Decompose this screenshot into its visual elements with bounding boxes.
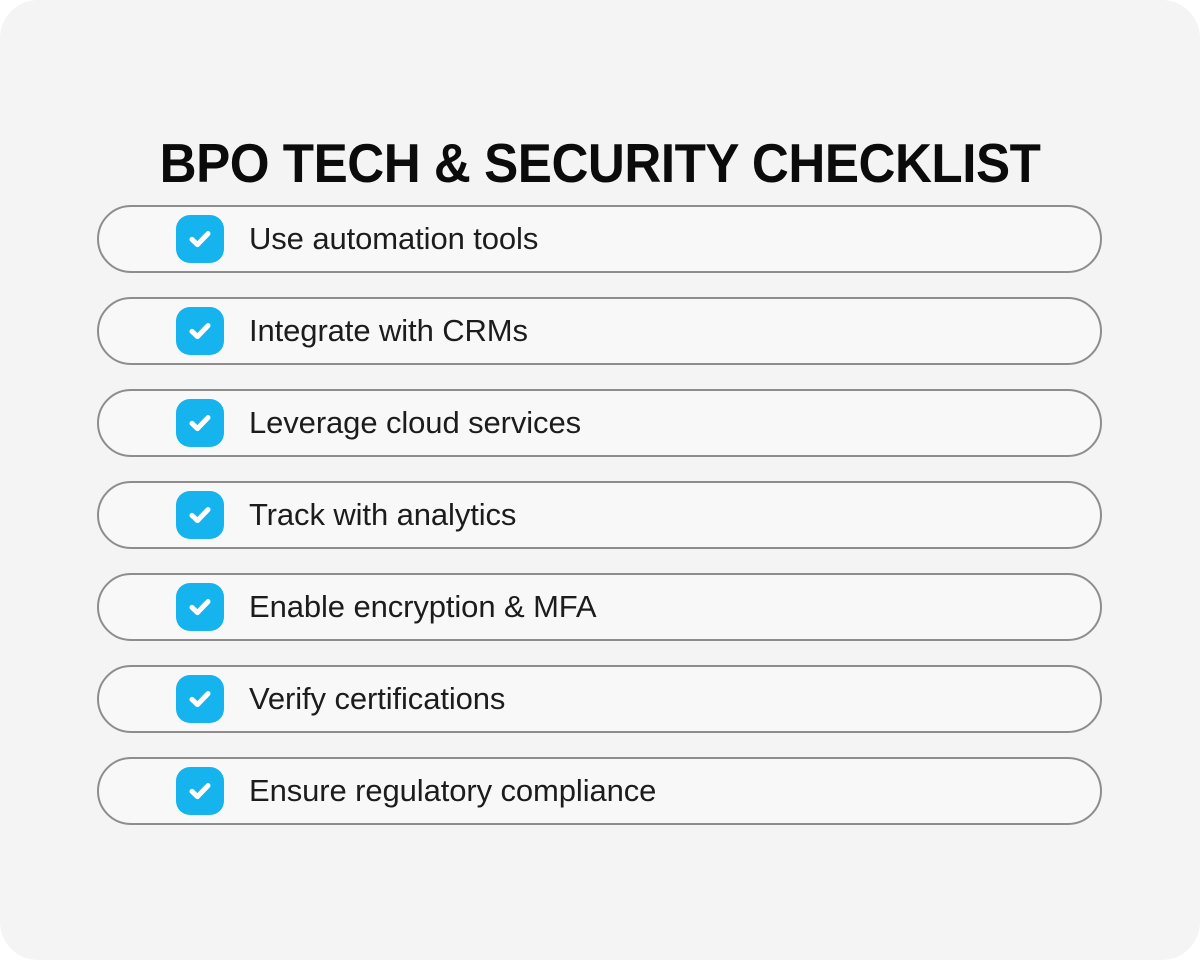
checklist-row[interactable]: Integrate with CRMs: [97, 297, 1102, 365]
checklist-row[interactable]: Leverage cloud services: [97, 389, 1102, 457]
check-icon[interactable]: [176, 307, 224, 355]
checklist-list: Use automation tools Integrate with CRMs…: [97, 205, 1102, 825]
check-icon[interactable]: [176, 399, 224, 447]
checklist-row[interactable]: Enable encryption & MFA: [97, 573, 1102, 641]
checklist-item-label: Use automation tools: [249, 221, 538, 257]
checklist-row[interactable]: Ensure regulatory compliance: [97, 757, 1102, 825]
check-icon[interactable]: [176, 767, 224, 815]
check-icon[interactable]: [176, 491, 224, 539]
checklist-item-label: Integrate with CRMs: [249, 313, 528, 349]
checklist-row[interactable]: Track with analytics: [97, 481, 1102, 549]
checklist-item-label: Verify certifications: [249, 681, 505, 717]
check-icon[interactable]: [176, 583, 224, 631]
checklist-card: BPO TECH & SECURITY CHECKLIST Use automa…: [0, 0, 1200, 960]
checklist-row[interactable]: Use automation tools: [97, 205, 1102, 273]
check-icon[interactable]: [176, 675, 224, 723]
page-title: BPO TECH & SECURITY CHECKLIST: [42, 132, 1158, 194]
checklist-item-label: Enable encryption & MFA: [249, 589, 597, 625]
check-icon[interactable]: [176, 215, 224, 263]
checklist-row[interactable]: Verify certifications: [97, 665, 1102, 733]
checklist-item-label: Track with analytics: [249, 497, 516, 533]
checklist-item-label: Ensure regulatory compliance: [249, 773, 656, 809]
checklist-item-label: Leverage cloud services: [249, 405, 581, 441]
